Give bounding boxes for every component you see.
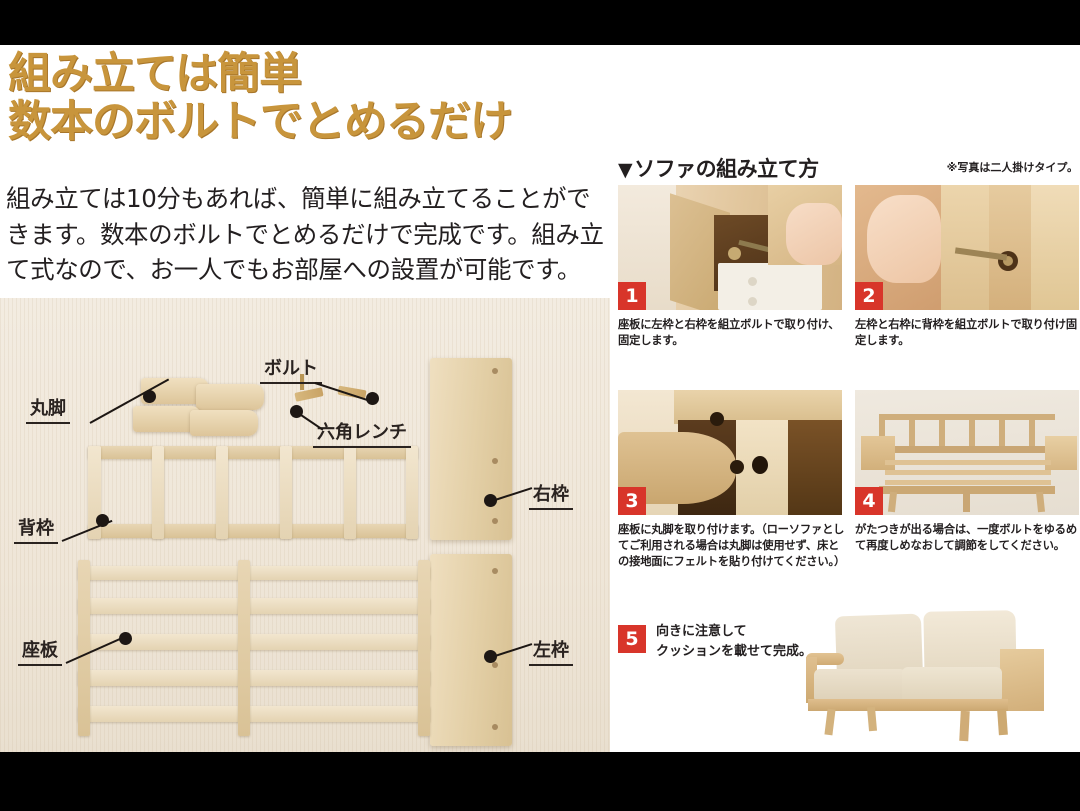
callout-label-seat-board: 座板 (18, 636, 62, 666)
step-photo-4: 4 (855, 390, 1079, 515)
finished-sofa-photo (792, 601, 1080, 751)
content-sheet: 組み立ては簡単 数本のボルトでとめるだけ 組み立ては10分もあれば、簡単に組み立… (0, 45, 1080, 752)
part-seat-board-slat (78, 598, 430, 614)
part-back-frame-rail-bottom (88, 524, 418, 538)
step-caption-5-line-1: 向きに注意して (656, 623, 747, 642)
callout-dot (143, 390, 156, 403)
callout-back-frame: 背枠 (14, 514, 58, 544)
headline-line-1: 組み立ては簡単 (8, 51, 608, 97)
assembly-section-title-text: ソファの組み立て方 (634, 157, 819, 181)
part-seat-board-slat (78, 706, 430, 722)
callout-label-left-frame: 左枠 (529, 636, 573, 666)
part-back-frame-stile (216, 446, 228, 539)
callout-round-leg: 丸脚 (26, 394, 70, 424)
part-seat-board-rail (418, 560, 430, 736)
page-root: 組み立ては簡単 数本のボルトでとめるだけ 組み立ては10分もあれば、簡単に組み立… (0, 0, 1080, 811)
part-seat-board-slat (78, 670, 430, 686)
step-badge-5: 5 (618, 625, 646, 653)
callout-label-back-frame: 背枠 (14, 514, 58, 544)
callout-dot (290, 405, 303, 418)
part-seat-board-rail (238, 560, 250, 736)
step-badge-2: 2 (855, 282, 883, 310)
page-title: 組み立ては簡単 数本のボルトでとめるだけ (8, 51, 608, 146)
step-caption-5-line-2: クッションを載せて完成。 (656, 643, 812, 662)
step-caption-2: 左枠と右枠に背枠を組立ボルトで取り付け固定します。 (855, 317, 1079, 349)
step-badge-3: 3 (618, 487, 646, 515)
part-right-frame (430, 358, 512, 540)
callout-dot (484, 650, 497, 663)
headline-line-2: 数本のボルトでとめるだけ (8, 99, 608, 145)
callout-label-hex-wrench: 六角レンチ (313, 418, 411, 448)
callout-label-bolt: ボルト (260, 354, 322, 384)
assembly-section-note: ※写真は二人掛けタイプ。 (947, 159, 1078, 175)
letterbox-bar-bottom (0, 752, 1080, 811)
part-back-frame-stile (344, 446, 356, 539)
callout-dot (96, 514, 109, 527)
step-photo-2: 2 (855, 185, 1079, 310)
step-caption-3: 座板に丸脚を取り付けます。（ローソファとしてご利用される場合は丸脚は使用せず、床… (618, 522, 848, 570)
step-photo-1: 1 (618, 185, 842, 310)
step-caption-1: 座板に左枠と右枠を組立ボルトで取り付け、固定します。 (618, 317, 840, 349)
step-caption-4: がたつきが出る場合は、一度ボルトをゆるめて再度しめなおして調節をしてください。 (855, 522, 1080, 554)
letterbox-bar-top (0, 0, 1080, 45)
callout-bolt: ボルト (260, 354, 322, 384)
callout-dot (484, 494, 497, 507)
triangle-icon: ▼ (618, 159, 632, 181)
part-seat-board-slat (78, 566, 430, 580)
callout-dot (366, 392, 379, 405)
part-round-leg (196, 384, 264, 410)
callout-label-round-leg: 丸脚 (26, 394, 70, 424)
part-back-frame-stile (406, 446, 418, 539)
assembly-section: ▼ソファの組み立て方 ※写真は二人掛けタイプ。 1 座板に左枠と右枠を組立ボルト… (616, 45, 1080, 752)
part-left-frame (430, 554, 512, 746)
assembly-section-title: ▼ソファの組み立て方 (618, 153, 819, 183)
part-back-frame-stile (152, 446, 164, 539)
part-round-leg (190, 410, 258, 436)
step-photo-3: 3 (618, 390, 842, 515)
part-back-frame-stile (280, 446, 292, 539)
callout-label-right-frame: 右枠 (529, 480, 573, 510)
callout-dot (119, 632, 132, 645)
step-badge-4: 4 (855, 487, 883, 515)
callout-seat-board: 座板 (18, 636, 62, 666)
part-seat-board-rail (78, 560, 90, 736)
lead-paragraph: 組み立ては10分もあれば、簡単に組み立てることができます。数本のボルトでとめるだ… (6, 181, 606, 288)
parts-diagram-photo: 丸脚 ボルト 六角レンチ 背枠 右枠 (0, 298, 610, 752)
step-badge-1: 1 (618, 282, 646, 310)
